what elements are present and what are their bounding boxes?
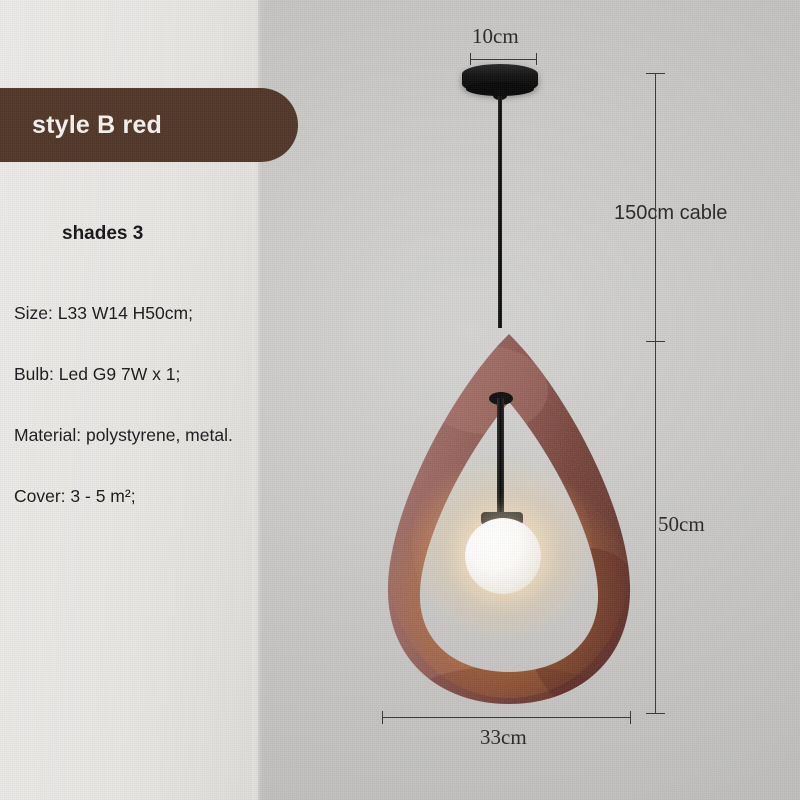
dim-label-cable-length: 150cm cable xyxy=(614,202,727,225)
spec-size: Size: L33 W14 H50cm; xyxy=(14,303,324,324)
globe-bulb xyxy=(465,518,541,594)
dim-tick-cable-top xyxy=(646,73,665,74)
dim-tick-shade-bottom xyxy=(646,713,665,714)
suspension-cable xyxy=(498,96,502,328)
dim-tick-width-right xyxy=(630,711,631,724)
spec-list: Size: L33 W14 H50cm; Bulb: Led G9 7W x 1… xyxy=(14,303,324,547)
spec-material: Material: polystyrene, metal. xyxy=(14,425,324,446)
spec-cover: Cover: 3 - 5 m²; xyxy=(14,486,324,507)
dim-label-shade-height: 50cm xyxy=(658,512,705,537)
spec-bulb: Bulb: Led G9 7W x 1; xyxy=(14,364,324,385)
bulb-support-rod xyxy=(497,398,504,518)
dim-tick-canopy-left xyxy=(470,53,471,65)
dim-label-shade-width: 33cm xyxy=(480,725,527,750)
dim-tick-canopy-right xyxy=(536,53,537,65)
style-badge-label: style B red xyxy=(32,111,162,140)
product-image: 10cm 150cm cable 50cm 33cm style B red s… xyxy=(0,0,800,800)
dim-label-canopy-width: 10cm xyxy=(472,24,519,49)
dim-tick-width-left xyxy=(382,711,383,724)
style-badge: style B red xyxy=(0,88,298,162)
dim-line-canopy-width xyxy=(470,59,536,60)
dim-line-shade-height xyxy=(655,341,656,713)
dim-line-shade-width xyxy=(382,717,630,718)
shades-title: shades 3 xyxy=(62,223,143,245)
